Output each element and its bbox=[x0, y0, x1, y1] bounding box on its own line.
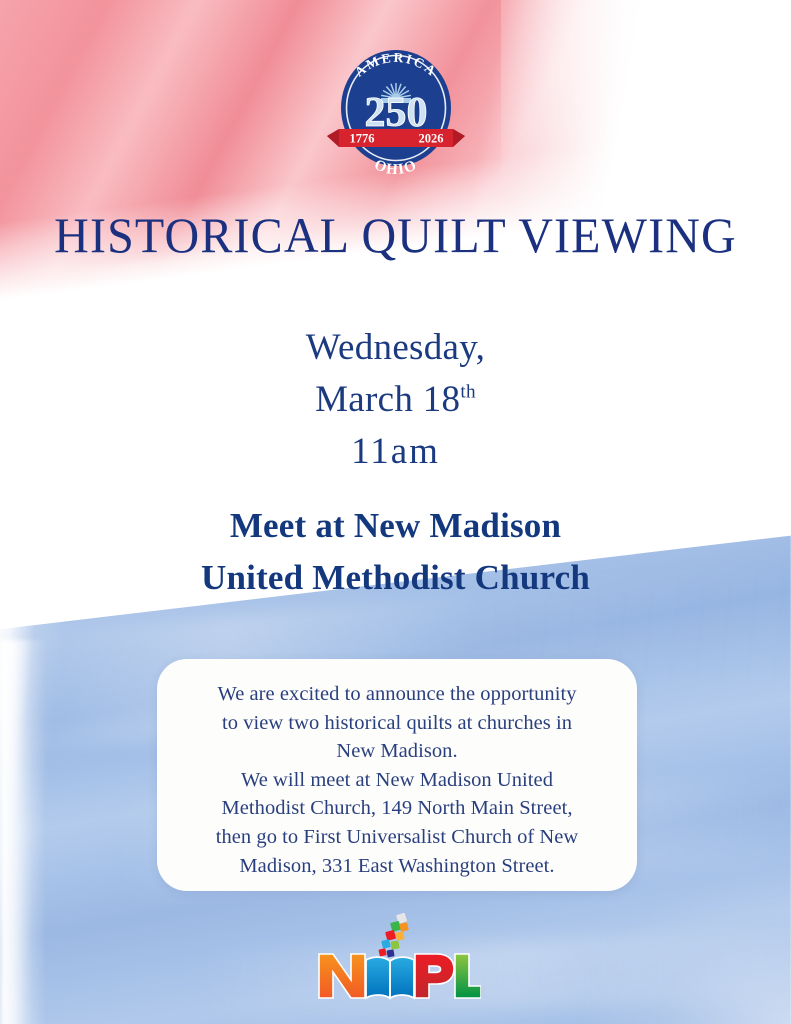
description-line-3: New Madison. bbox=[175, 737, 619, 766]
event-date: March 18th bbox=[0, 374, 791, 426]
flyer-poster: AMERICA 250 1776 2026 OHIO HISTORICAL QU… bbox=[0, 0, 791, 1024]
event-venue-block: Meet at New Madison United Methodist Chu… bbox=[0, 500, 791, 604]
poster-title: HISTORICAL QUILT VIEWING bbox=[16, 206, 775, 264]
logo-letter-m-book bbox=[366, 957, 414, 998]
event-month-day: March 18 bbox=[315, 379, 460, 420]
description-line-4: We will meet at New Madison United bbox=[175, 766, 619, 795]
logo-letter-n bbox=[319, 954, 365, 998]
description-line-1: We are excited to announce the opportuni… bbox=[175, 680, 619, 709]
svg-text:1776: 1776 bbox=[349, 132, 374, 146]
logo-floating-squares bbox=[376, 913, 408, 964]
description-text: We are excited to announce the opportuni… bbox=[175, 680, 619, 880]
america-250-ohio-seal-icon: AMERICA 250 1776 2026 OHIO bbox=[321, 46, 471, 174]
logo-letter-p bbox=[415, 954, 454, 998]
logo-letter-l bbox=[455, 954, 481, 998]
description-card: We are excited to announce the opportuni… bbox=[157, 659, 637, 891]
event-date-ordinal: th bbox=[460, 382, 476, 403]
venue-line-1: Meet at New Madison bbox=[0, 500, 791, 552]
description-line-5: Methodist Church, 149 North Main Street, bbox=[175, 794, 619, 823]
description-line-2: to view two historical quilts at churche… bbox=[175, 709, 619, 738]
event-time: 11am bbox=[0, 426, 791, 478]
nmpl-logo-icon bbox=[311, 910, 481, 1002]
event-day: Wednesday, bbox=[0, 322, 791, 374]
event-datetime-block: Wednesday, March 18th 11am bbox=[0, 322, 791, 478]
svg-text:2026: 2026 bbox=[418, 132, 443, 146]
description-line-7: Madison, 331 East Washington Street. bbox=[175, 852, 619, 881]
venue-line-2: United Methodist Church bbox=[0, 552, 791, 604]
description-line-6: then go to First Universalist Church of … bbox=[175, 823, 619, 852]
